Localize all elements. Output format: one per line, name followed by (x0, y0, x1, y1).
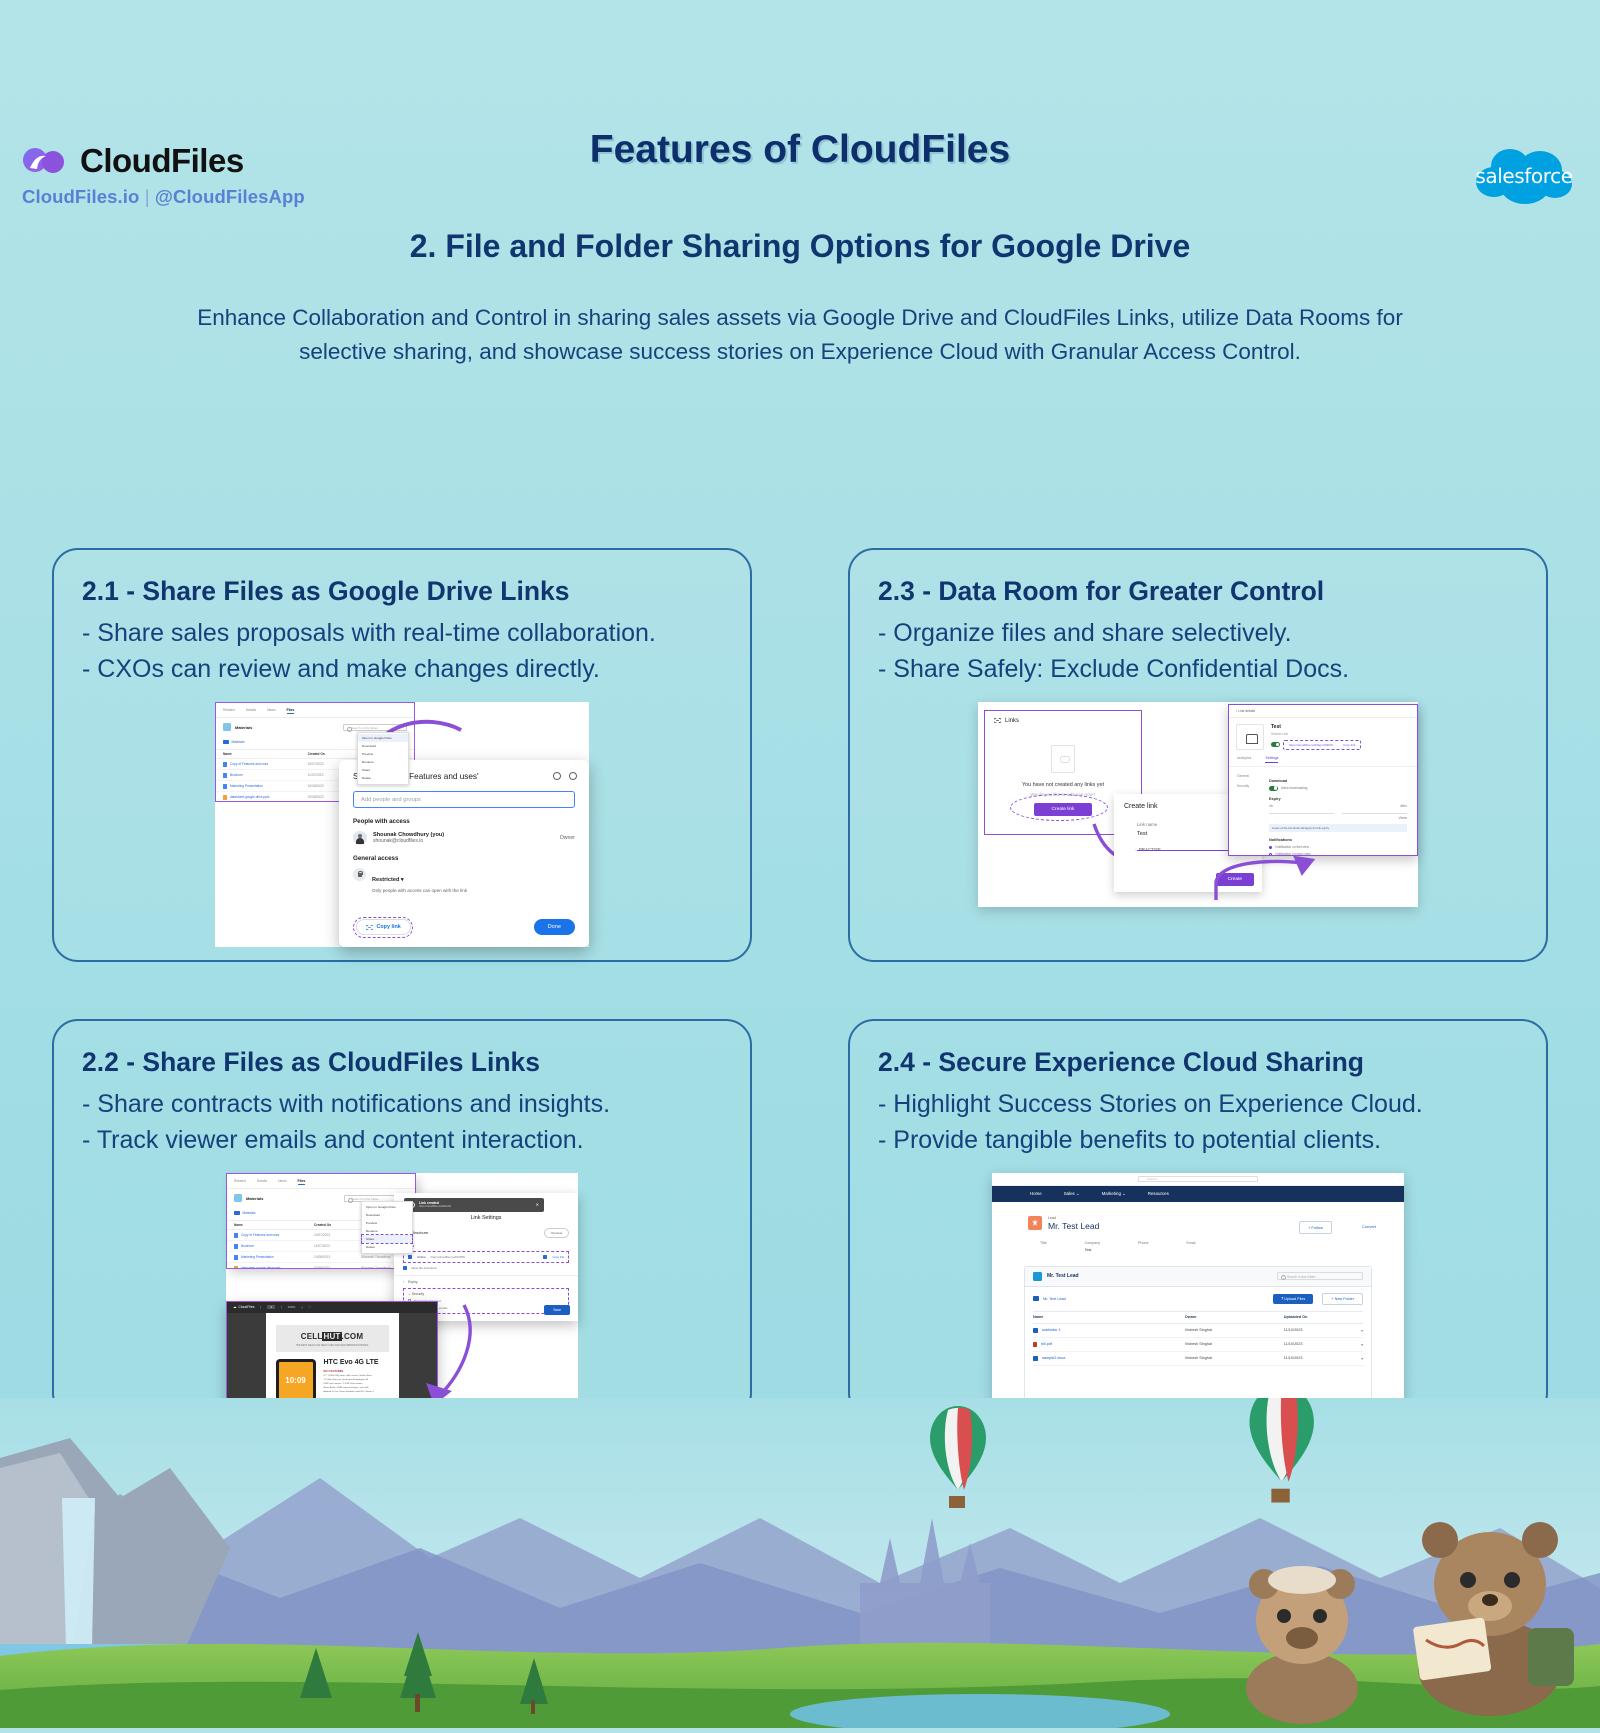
file-name[interactable]: Brochure (230, 773, 243, 777)
card-bullet: - Highlight Success Stories on Experienc… (878, 1086, 1518, 1122)
community-navigation[interactable]: Home Sales ⌄ Marketing ⌄ Resources (992, 1186, 1404, 1202)
salesforce-files-window: Related Details News Files Materials Sea… (226, 1173, 416, 1269)
general-access-row[interactable]: Restricted ▾ Only people with access can… (353, 868, 575, 893)
brand-block: CloudFiles CloudFiles.io | @CloudFilesAp… (22, 142, 305, 208)
notif-option[interactable]: Notification on first view (1269, 845, 1407, 849)
record-name: Mr. Test Lead (1048, 1221, 1099, 1231)
cloudfiles-icon (223, 723, 231, 731)
col-name: Name (1033, 1315, 1185, 1319)
field-label: Email (1186, 1241, 1195, 1245)
file-name[interactable]: Copy of Features and uses (230, 762, 268, 766)
salesforce-cloud-logo: salesforce (1470, 140, 1578, 212)
record-tabs[interactable]: Related Details News Files (216, 703, 414, 719)
copy-icon[interactable] (543, 1255, 547, 1259)
radio-icon[interactable] (1269, 846, 1272, 849)
status-row[interactable]: Online https://cloudfiles.io/d/0z08N Cop… (403, 1251, 569, 1263)
allow-download-row[interactable]: Allow downloading (1269, 786, 1407, 791)
screenshot-google-drive-share: Related Details News Files Materials Sea… (215, 702, 589, 947)
fullscreen-icon[interactable]: ⛶ (309, 1305, 311, 1309)
tab-related[interactable]: Related (223, 708, 235, 715)
document-brand-banner: CELLHUT.COM THE BEST DEALS ON NEW, USED … (276, 1325, 389, 1352)
toast-url: https://cloudfiles.io/d/abcdef (419, 1205, 451, 1208)
owner: Vishesh Singhal (1185, 1356, 1284, 1361)
feature-line: Beats Audio, 16GB internal storage + mic… (324, 1387, 389, 1389)
viewer-toolbar[interactable]: ☁ CloudFiles | 1 | 100% ⤓ ⛶ (227, 1302, 437, 1313)
tab-news[interactable]: News (278, 1179, 286, 1186)
empty-state-icon (1051, 745, 1075, 773)
lead-header: Lead Mr. Test Lead (992, 1202, 1404, 1231)
screenshot-data-room: Links You have not created any links yet… (978, 702, 1418, 907)
general-access-value[interactable]: Restricted ▾ (372, 877, 404, 883)
product-name: HTC Evo 4G LTE (324, 1359, 389, 1366)
feature-card-2-3: 2.3 - Data Room for Greater Control - Or… (848, 548, 1548, 962)
row-action-menu[interactable]: Open in Google Drive Download Preview Re… (361, 1201, 413, 1254)
global-search-bar[interactable]: Search... (992, 1173, 1404, 1186)
upload-files-button[interactable]: ⤒ Upload Files (1273, 1294, 1313, 1304)
uploaded-on: 11/10/2023 (1284, 1328, 1350, 1333)
owner: Vishesh Singhal (1185, 1328, 1284, 1333)
cloudfiles-icon (1033, 1272, 1042, 1281)
google-drive-share-dialog: Share 'Copy of Features and uses' Add pe… (339, 760, 589, 947)
col-actions (1350, 1315, 1363, 1319)
person-name: Shounak Chowdhury (you) (373, 832, 444, 838)
menu-item-delete[interactable]: Delete (358, 774, 408, 782)
expiry-on-label: On (1269, 804, 1273, 808)
file-name[interactable]: Marketing Presentation (241, 1255, 274, 1259)
created-on: 10/07/2023 (314, 1233, 361, 1238)
file-name[interactable]: Marketing Presentation (230, 784, 263, 788)
avatar (353, 831, 367, 845)
tab-files[interactable]: Files (287, 708, 295, 715)
panel-title: Materials (235, 725, 252, 730)
expiry-section[interactable]: › Expiry (394, 1275, 578, 1284)
cloudfiles-cloud-icon (22, 144, 66, 178)
file-name[interactable]: datasheet-google-drive.pptx (241, 1266, 281, 1269)
row-menu-icon[interactable]: ▾ (1350, 1328, 1363, 1333)
link-url[interactable]: https://cloudfiles.io/d/fLjpnzM02S (1289, 743, 1333, 747)
record-tabs[interactable]: Related Details News Files (227, 1174, 415, 1190)
card-title: 2.4 - Secure Experience Cloud Sharing (878, 1047, 1518, 1078)
menu-item-delete[interactable]: Delete (362, 1243, 412, 1251)
add-people-input[interactable]: Add people and groups (353, 791, 575, 808)
link-icon (994, 718, 1001, 723)
col-created-on: Created On (314, 1223, 361, 1227)
table-row[interactable]: subfolder 1 Vishesh Singhal 11/10/2023 ▾ (1033, 1324, 1363, 1338)
feature-line: 8 MP rear camera / 1.3 MP front camera (324, 1383, 389, 1385)
file-name[interactable]: bill.pdf (1041, 1342, 1052, 1346)
nav-item-sales[interactable]: Sales ⌄ (1064, 1191, 1080, 1197)
tab-details[interactable]: Details (257, 1179, 267, 1186)
online-toggle[interactable] (1271, 742, 1280, 747)
uploaded-on: 11/10/2023 (1284, 1356, 1350, 1361)
document-brand-tagline: THE BEST DEALS ON NEW, USED AND REFURBIS… (276, 1344, 389, 1347)
card-bullet: - Track viewer emails and content intera… (82, 1122, 722, 1158)
side-item-security[interactable]: Security (1237, 784, 1263, 788)
people-with-access-heading: People with access (353, 818, 575, 825)
screenshot-cloudfiles-links: Related Details News Files Materials Sea… (226, 1173, 578, 1419)
folder-icon (234, 1211, 240, 1216)
notif-option[interactable]: Notification on each view (1269, 852, 1407, 855)
col-created-on: Created On (308, 752, 358, 756)
menu-item-preview[interactable]: Preview (362, 1219, 412, 1227)
expiry-views-label: Views (1399, 816, 1407, 820)
panel-title: Mr. Test Lead (1047, 1273, 1079, 1279)
lock-icon (353, 868, 366, 881)
menu-item-rename[interactable]: Rename (362, 1227, 412, 1235)
menu-item-rename[interactable]: Rename (358, 758, 408, 766)
tab-settings[interactable]: Settings (1265, 756, 1278, 763)
create-button[interactable]: Create (1216, 873, 1254, 886)
landscape-illustration (0, 1398, 1600, 1728)
brand-name: CloudFiles (80, 142, 244, 180)
save-button[interactable]: Save (544, 1305, 570, 1315)
card-bullet: - Share Safely: Exclude Confidential Doc… (878, 651, 1518, 687)
settings-gear-icon[interactable] (569, 772, 577, 780)
download-heading: Download (1269, 779, 1407, 783)
download-icon[interactable]: ⤓ (301, 1305, 302, 1309)
col-name: Name (223, 752, 308, 756)
link-thumbnail (1236, 724, 1264, 750)
status-heading: Status (394, 1238, 578, 1248)
table-row[interactable]: sample2.docx Vishesh Singhal 11/10/2023 … (1033, 1352, 1363, 1366)
notifications-heading: Notifications (1269, 838, 1407, 842)
link-details-tabs[interactable]: Analytics Settings (1229, 750, 1417, 767)
salesforce-wordmark: salesforce (1470, 164, 1578, 188)
file-icon (223, 773, 227, 778)
file-icon (234, 1233, 238, 1238)
create-link-highlight (1010, 794, 1108, 821)
feature-line: 4.7" (1280x720) pixels, qHD screen, Gori… (324, 1375, 389, 1377)
link-details-breadcrumb[interactable]: ‹ Link details (1229, 705, 1417, 718)
brand-site[interactable]: CloudFiles.io (22, 186, 139, 207)
lead-icon (1028, 1216, 1042, 1230)
owner: Vishesh Singhal (1185, 1342, 1284, 1347)
document-brand: CELLHUT.COM (276, 1332, 389, 1341)
close-icon[interactable]: ✕ (536, 1202, 539, 1207)
pdf-icon (1033, 1342, 1037, 1347)
help-icon[interactable] (553, 772, 561, 780)
card-bullet: - Share sales proposals with real-time c… (82, 615, 722, 651)
empty-state-title: You have not created any links yet (985, 782, 1141, 788)
folder-search-input[interactable]: Search in this folder... (1277, 1272, 1363, 1280)
folder-icon (1033, 1328, 1038, 1333)
file-name: Brochure (412, 1230, 428, 1235)
link-url[interactable]: https://cloudfiles.io/d/0z08N (431, 1255, 539, 1259)
menu-item-share[interactable]: Share (362, 1235, 412, 1243)
checkbox-icon[interactable] (408, 1255, 412, 1259)
link-subtitle: Shared Link (1271, 732, 1410, 736)
panel-title: Materials (246, 1196, 263, 1201)
file-name[interactable]: datasheet-google-drive.pptx (230, 795, 270, 799)
link-url-row[interactable]: https://cloudfiles.io/d/fLjpnzM02S Copy … (1283, 740, 1361, 750)
feature-line: 1.5 GHz dual-core Qualcomm Snapdragon S4 (324, 1379, 389, 1381)
page-number-input[interactable]: 1 (267, 1305, 275, 1309)
security-heading: ⌄ Security (408, 1292, 564, 1296)
created-on: 10/08/2023 (314, 1255, 361, 1260)
tab-details[interactable]: Details (246, 708, 256, 715)
menu-item-download[interactable]: Download (358, 742, 408, 750)
copy-link-button[interactable]: Copy link (552, 1255, 564, 1259)
doc-icon (1033, 1356, 1038, 1361)
table-row[interactable]: bill.pdf Vishesh Singhal 11/10/2023 ▾ (1033, 1338, 1363, 1352)
card-bullet: - Share contracts with notifications and… (82, 1086, 722, 1122)
cloudfiles-files-panel: Mr. Test Lead Search in this folder... M… (1024, 1266, 1372, 1415)
search-input[interactable]: Search in this folder... (343, 724, 407, 731)
convert-button[interactable]: Convert (1356, 1221, 1382, 1232)
general-access-note: Only people with access can open with th… (372, 888, 467, 893)
card-bullet: - Organize files and share selectively. (878, 615, 1518, 651)
feature-card-2-1: 2.1 - Share Files as Google Drive Links … (52, 548, 752, 962)
link-title: Test (1271, 724, 1410, 730)
field-label: Title (1040, 1241, 1047, 1245)
expiry-heading: Expiry (1269, 797, 1407, 801)
links-title: Links (1005, 718, 1019, 724)
file-name[interactable]: Brochure (241, 1244, 254, 1248)
search-input[interactable]: Search... (1138, 1176, 1258, 1182)
preview-button[interactable]: Preview (544, 1228, 569, 1238)
feature-card-2-2: 2.2 - Share Files as CloudFiles Links - … (52, 1019, 752, 1419)
person-row: Shounak Chowdhury (you) shounak@cloudfil… (353, 831, 575, 845)
folder-icon (223, 740, 229, 745)
row-action-menu[interactable]: Open in Google Drive Download Preview Re… (357, 732, 409, 785)
expiry-note: Lower of the two limits will apply for l… (1269, 824, 1407, 832)
row-menu-icon[interactable]: ▾ (1350, 1356, 1363, 1361)
folder-icon (1033, 1296, 1039, 1301)
menu-item-download[interactable]: Download (362, 1211, 412, 1219)
link-icon (366, 925, 373, 930)
links-panel-header: Links (985, 711, 1141, 731)
brand-social[interactable]: @CloudFilesApp (155, 186, 305, 207)
breadcrumb-label[interactable]: Materials (232, 740, 245, 744)
brand-sep: | (139, 186, 154, 207)
created-on: 11/07/2023 (314, 1244, 361, 1249)
nav-item-resources[interactable]: Resources (1148, 1191, 1169, 1196)
col-uploaded-on: Uploaded On (1284, 1315, 1350, 1319)
field-label: Company (1085, 1241, 1100, 1245)
uploaded-on: 11/10/2023 (1284, 1342, 1350, 1347)
follow-button[interactable]: + Follow (1299, 1221, 1332, 1234)
menu-item-preview[interactable]: Preview (358, 750, 408, 758)
menu-item-open-in-google-drive[interactable]: Open in Google Drive (358, 734, 408, 742)
person-role: Owner (560, 835, 575, 841)
file-icon (223, 795, 227, 800)
new-folder-button[interactable]: + New Folder (1322, 1293, 1363, 1305)
field-label: Phone (1138, 1241, 1148, 1245)
field-value: Test (1085, 1248, 1100, 1252)
cloudfiles-icon (234, 1194, 242, 1202)
file-icon (234, 1255, 238, 1260)
page-intro: Enhance Collaboration and Control in sha… (185, 301, 1415, 369)
table-row[interactable]: Marketing Presentation 10/08/2023 Shouna… (227, 1252, 415, 1263)
radio-icon[interactable] (1269, 853, 1272, 856)
page-subtitle: 2. File and Folder Sharing Options for G… (0, 228, 1600, 265)
tab-related[interactable]: Related (234, 1179, 246, 1186)
menu-item-share[interactable]: Share (358, 766, 408, 774)
col-owner: Owner (1185, 1315, 1284, 1319)
allow-download-row[interactable]: Allow file download (394, 1263, 578, 1270)
file-icon (223, 784, 227, 789)
tab-files[interactable]: Files (298, 1179, 306, 1186)
nav-item-marketing[interactable]: Marketing ⌄ (1102, 1191, 1126, 1197)
link-created-toast: Link created https://cloudfiles.io/d/abc… (404, 1198, 544, 1212)
feature-line: Android 4.0 Ice Cream Sandwich with HTC … (324, 1391, 389, 1393)
file-name[interactable]: sample2.docx (1042, 1356, 1065, 1360)
nav-item-home[interactable]: Home (1030, 1191, 1042, 1196)
file-name[interactable]: Copy of Features and uses (241, 1233, 279, 1237)
key-features-heading: KEY FEATURES (324, 1370, 389, 1373)
checkbox-icon[interactable] (403, 1266, 407, 1270)
card-title: 2.3 - Data Room for Greater Control (878, 576, 1518, 607)
copy-link-button[interactable]: Copy link (356, 919, 411, 935)
brand-handles: CloudFiles.io | @CloudFilesApp (22, 186, 305, 208)
record-type: Lead (1048, 1216, 1099, 1220)
file-name[interactable]: subfolder 1 (1042, 1328, 1061, 1332)
table-row[interactable]: datasheet-google-drive.pptx 02/08/2023 S… (227, 1263, 415, 1269)
breadcrumb-label[interactable]: Materials (243, 1211, 256, 1215)
expiry-after-label: After (1400, 804, 1407, 808)
file-icon (223, 762, 227, 767)
lead-fields: Title CompanyTest Phone Email (992, 1231, 1404, 1252)
side-item-general[interactable]: General (1237, 774, 1263, 778)
row-menu-icon[interactable]: ▾ (1350, 1342, 1363, 1347)
file-icon (234, 1244, 238, 1249)
general-access-heading: General access (353, 855, 575, 862)
screenshot-experience-cloud: Search... Home Sales ⌄ Marketing ⌄ Resou… (992, 1173, 1404, 1406)
file-icon (234, 1266, 238, 1269)
copy-link-highlight: Copy link (353, 917, 413, 938)
done-button[interactable]: Done (534, 919, 575, 935)
status-online-label: Online (417, 1255, 426, 1259)
tab-analytics[interactable]: Analytics (1237, 756, 1251, 763)
link-details-panel: ‹ Link details Test Shared Link https://… (1228, 704, 1418, 856)
copy-link-button[interactable]: Copy link (1343, 743, 1355, 747)
col-name: Name (234, 1223, 314, 1227)
tab-news[interactable]: News (267, 708, 275, 715)
download-toggle[interactable] (1269, 786, 1278, 791)
zoom-level[interactable]: 100% (288, 1305, 296, 1309)
breadcrumb-label[interactable]: Mr. Test Lead (1043, 1297, 1066, 1301)
menu-item-open-in-google-drive[interactable]: Open in Google Drive (362, 1203, 412, 1211)
card-title: 2.1 - Share Files as Google Drive Links (82, 576, 722, 607)
feature-card-2-4: 2.4 - Secure Experience Cloud Sharing - … (848, 1019, 1548, 1419)
settings-side-nav[interactable]: General Security (1229, 767, 1263, 856)
cloudfiles-logo: ☁ CloudFiles (233, 1305, 254, 1309)
created-on: 02/08/2023 (314, 1266, 361, 1269)
card-bullet: - CXOs can review and make changes direc… (82, 651, 722, 687)
card-bullet: - Provide tangible benefits to potential… (878, 1122, 1518, 1158)
person-email: shounak@cloudfiles.io (373, 838, 444, 844)
feature-card-grid: 2.1 - Share Files as Google Drive Links … (52, 548, 1548, 1419)
card-title: 2.2 - Share Files as CloudFiles Links (82, 1047, 722, 1078)
